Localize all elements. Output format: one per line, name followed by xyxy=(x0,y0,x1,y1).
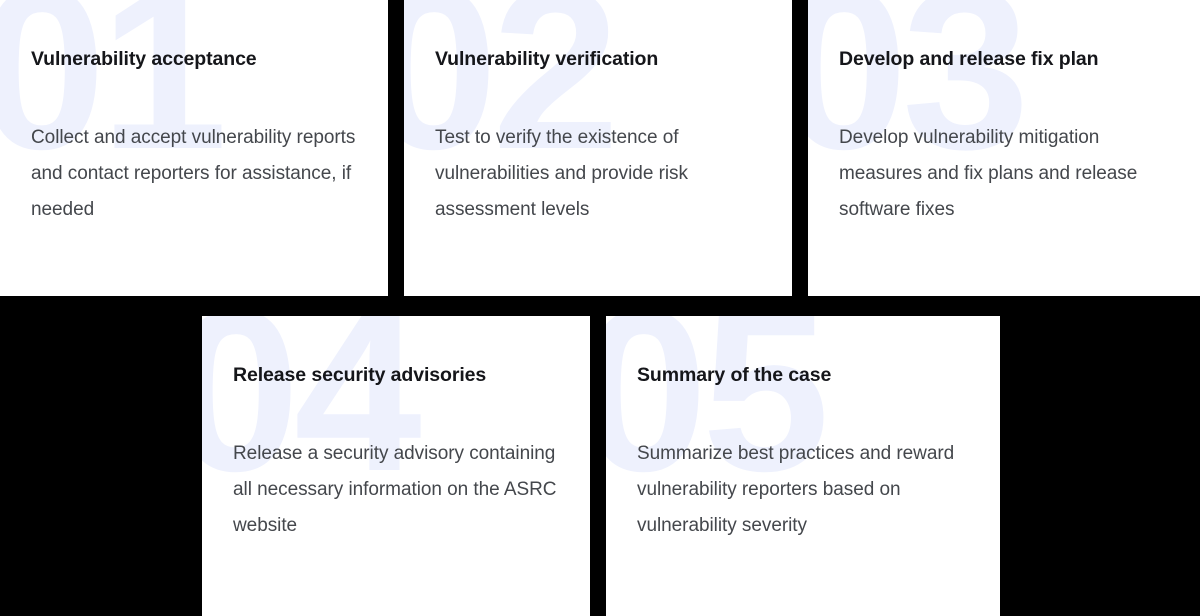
step-card-04[interactable]: 04 Release security advisories Release a… xyxy=(202,316,590,616)
step-description: Collect and accept vulnerability reports… xyxy=(31,120,358,228)
step-title: Develop and release fix plan xyxy=(839,46,1170,72)
step-card-content: Vulnerability acceptance Collect and acc… xyxy=(0,0,388,228)
step-description: Release a security advisory containing a… xyxy=(233,436,560,544)
step-card-content: Develop and release fix plan Develop vul… xyxy=(808,0,1200,228)
step-title: Vulnerability acceptance xyxy=(31,46,358,72)
step-card-01[interactable]: 01 Vulnerability acceptance Collect and … xyxy=(0,0,388,296)
step-title: Release security advisories xyxy=(233,362,560,388)
step-description: Develop vulnerability mitigation measure… xyxy=(839,120,1170,228)
step-card-content: Release security advisories Release a se… xyxy=(202,316,590,544)
step-card-05[interactable]: 05 Summary of the case Summarize best pr… xyxy=(606,316,1000,616)
step-title: Vulnerability verification xyxy=(435,46,762,72)
process-steps-board: 01 Vulnerability acceptance Collect and … xyxy=(0,0,1200,616)
step-card-02[interactable]: 02 Vulnerability verification Test to ve… xyxy=(404,0,792,296)
step-description: Summarize best practices and reward vuln… xyxy=(637,436,970,544)
step-card-03[interactable]: 03 Develop and release fix plan Develop … xyxy=(808,0,1200,296)
step-title: Summary of the case xyxy=(637,362,970,388)
step-card-content: Vulnerability verification Test to verif… xyxy=(404,0,792,228)
step-card-content: Summary of the case Summarize best pract… xyxy=(606,316,1000,544)
step-description: Test to verify the existence of vulnerab… xyxy=(435,120,762,228)
